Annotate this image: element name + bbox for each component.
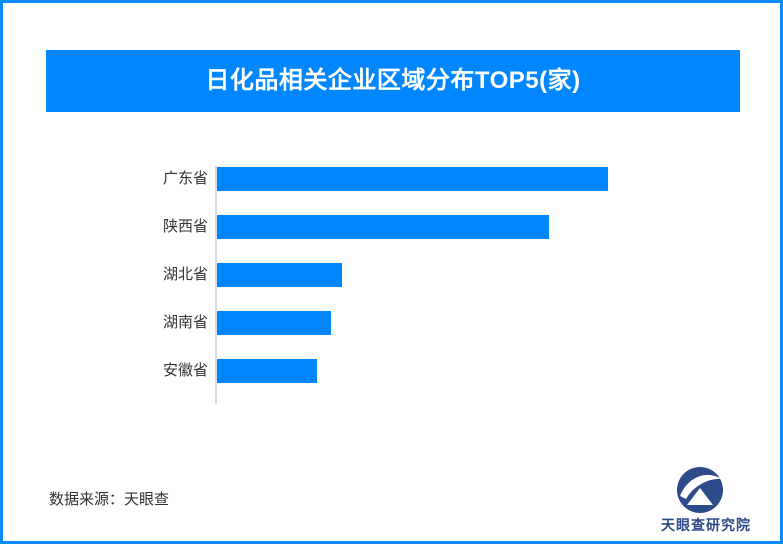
bar-row: 安徽省 bbox=[3, 358, 783, 384]
bar-row: 陕西省 bbox=[3, 214, 783, 240]
bar-row: 广东省 bbox=[3, 166, 783, 192]
bar-rect bbox=[217, 215, 549, 239]
bar-category-label: 湖北省 bbox=[63, 262, 208, 288]
bar-rect bbox=[217, 359, 317, 383]
page-title: 日化品相关企业区域分布TOP5(家) bbox=[205, 69, 580, 93]
bar-rect bbox=[217, 167, 608, 191]
bar-chart-plot-area: 广东省 陕西省 湖北省 湖南省 安徽省 bbox=[3, 153, 783, 413]
bar-category-label: 安徽省 bbox=[63, 358, 208, 384]
bar-category-label: 陕西省 bbox=[63, 214, 208, 240]
bar-row: 湖北省 bbox=[3, 262, 783, 288]
bar-category-label: 广东省 bbox=[63, 166, 208, 192]
bar-rect bbox=[217, 263, 342, 287]
bar-row: 湖南省 bbox=[3, 310, 783, 336]
tianyancha-eye-logo-icon bbox=[676, 466, 724, 514]
bar-category-label: 湖南省 bbox=[63, 310, 208, 336]
bar-rect bbox=[217, 311, 331, 335]
brand-logo-caption: 天眼查研究院 bbox=[651, 515, 761, 535]
chart-canvas: 日化品相关企业区域分布TOP5(家) 广东省 陕西省 湖北省 湖南省 安徽省 数… bbox=[0, 0, 783, 544]
brand-logo: 天眼查研究院 bbox=[651, 466, 761, 536]
data-source-label: 数据来源：天眼查 bbox=[49, 488, 169, 509]
chart-title-banner: 日化品相关企业区域分布TOP5(家) bbox=[46, 50, 740, 112]
